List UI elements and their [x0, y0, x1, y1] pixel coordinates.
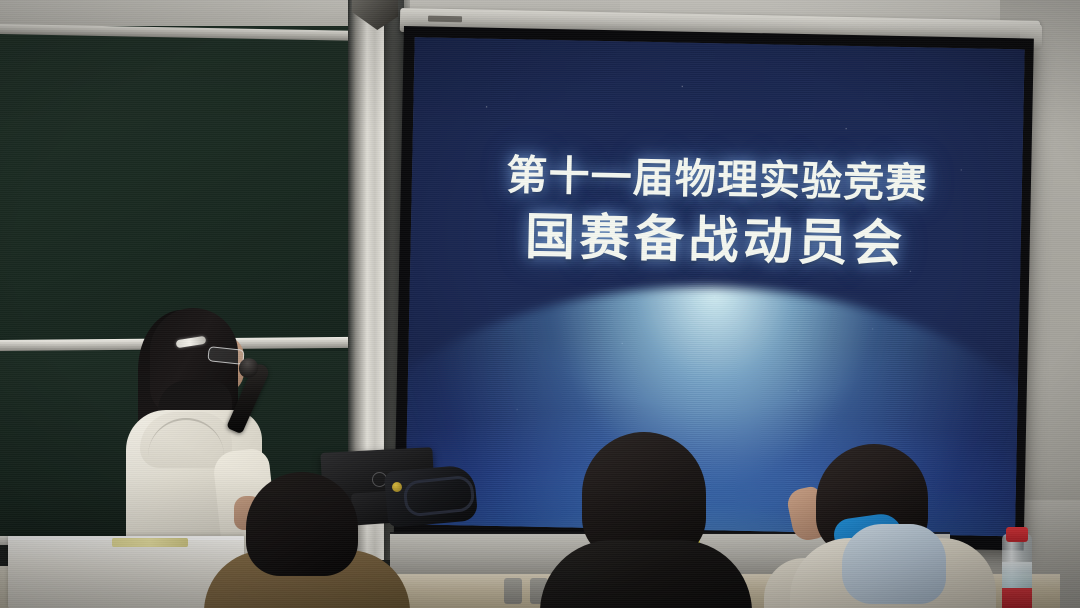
left-audience-head	[246, 472, 358, 576]
audience-member-center	[540, 432, 750, 608]
slide-title-line-2: 国赛备战动员会	[410, 206, 1021, 277]
classroom-photo: 第十一届物理实验竞赛 国赛备战动员会	[0, 0, 1080, 608]
right-audience-hood	[842, 524, 946, 604]
water-bottle-cap	[1006, 527, 1028, 542]
water-bottle-band	[1002, 588, 1032, 608]
center-audience-jacket	[540, 540, 752, 608]
roller-brand-logo	[428, 16, 462, 23]
water-bottle-label	[1002, 562, 1032, 590]
audience-member-left	[210, 472, 400, 608]
slide-title-block: 第十一届物理实验竞赛 国赛备战动员会	[410, 149, 1022, 277]
desk-clip-left	[504, 578, 522, 604]
podium-yellow-item	[112, 538, 188, 547]
audience-member-right	[772, 438, 994, 608]
